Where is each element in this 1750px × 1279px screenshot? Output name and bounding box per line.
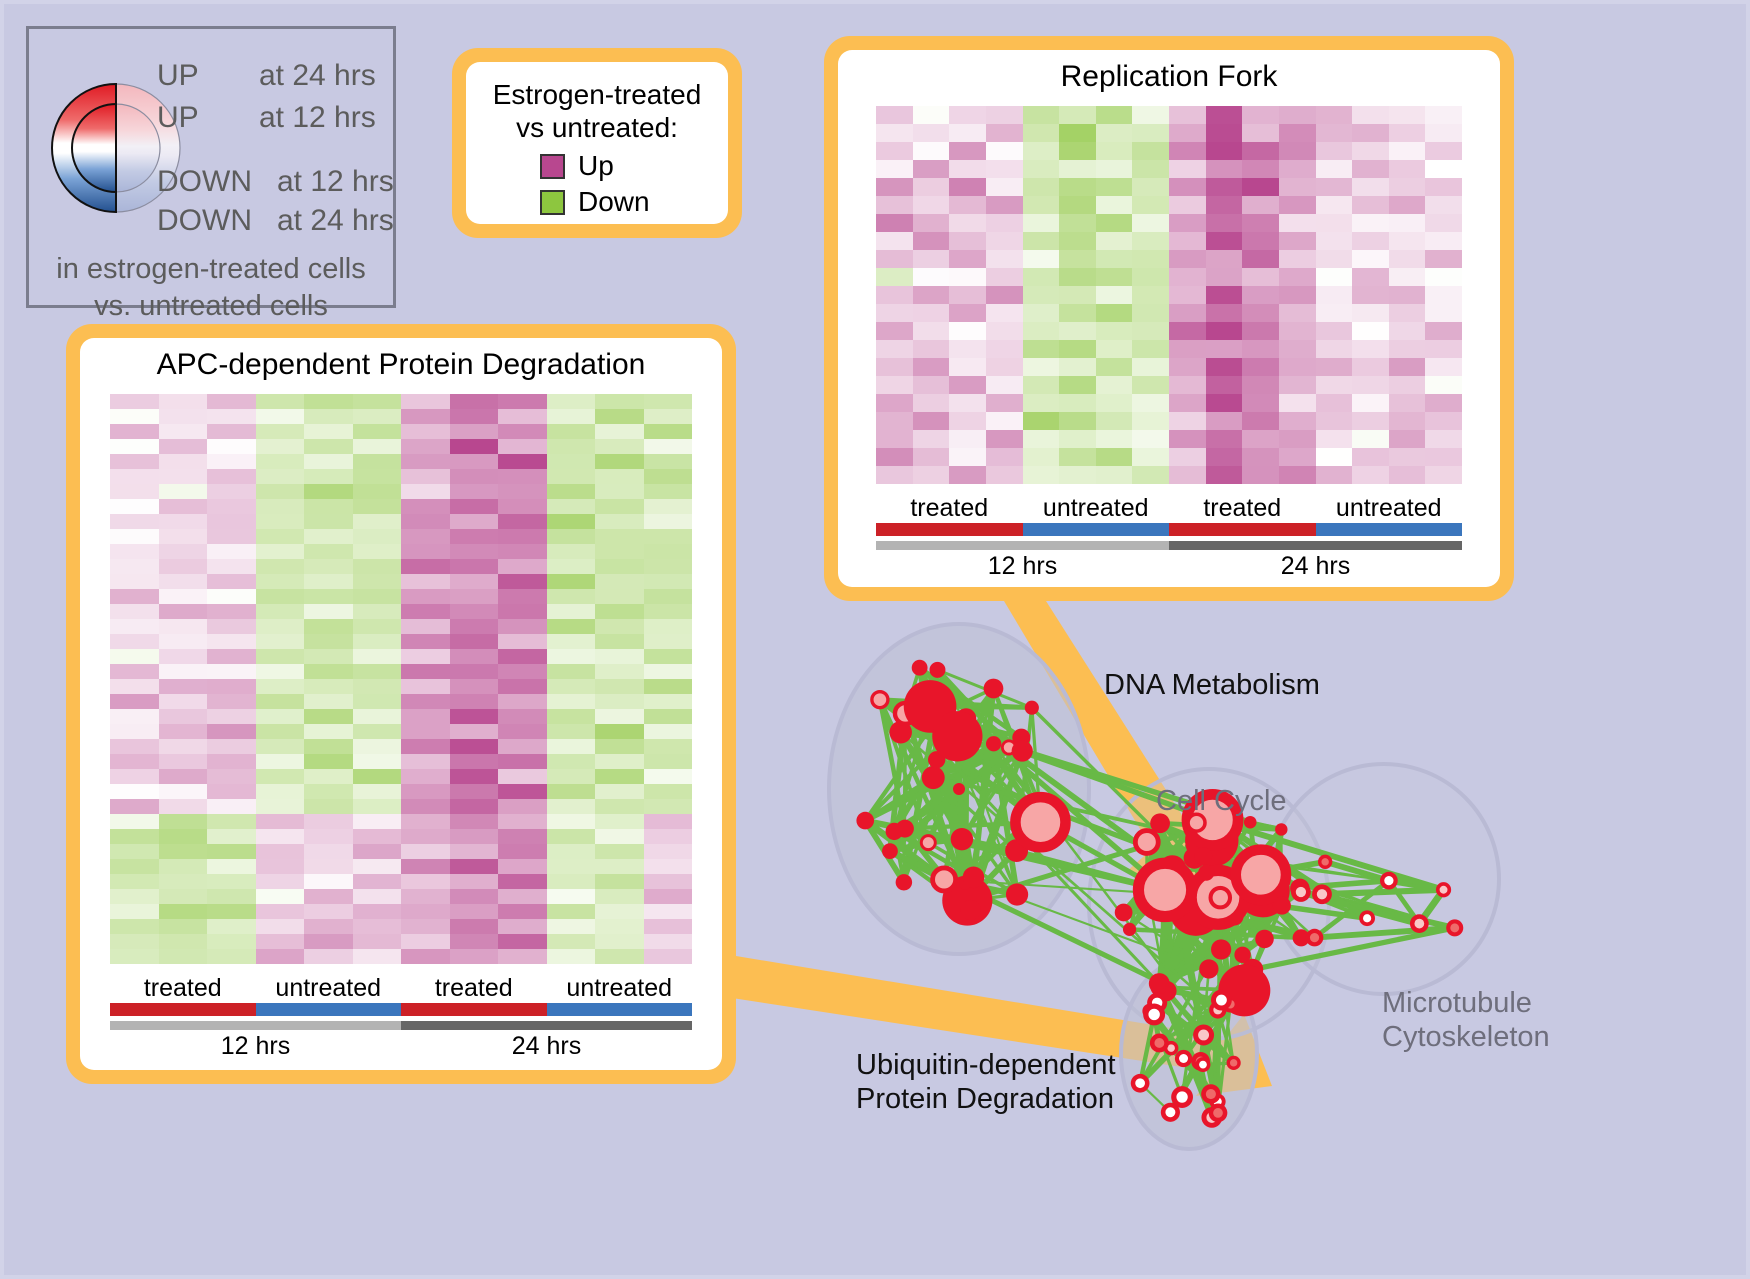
heatmap-cell [876,178,913,196]
heatmap-cell [1242,124,1279,142]
heatmap-cell [207,544,256,559]
heatmap-cell [644,649,693,664]
annotation-bar-segment [876,523,1023,536]
heatmap-cell [1059,394,1096,412]
heatmap-cell [1352,322,1389,340]
heatmap-cell [547,664,596,679]
heatmap-cell [401,859,450,874]
heatmap-cell [986,214,1023,232]
heatmap-cell [1206,232,1243,250]
heatmap-cell [949,214,986,232]
heatmap-cell [110,799,159,814]
heatmap-cell [1316,124,1353,142]
heatmap-cell [1169,286,1206,304]
heatmap-cell [644,799,693,814]
heatmap-cell [207,679,256,694]
heatmap-cell [1352,160,1389,178]
heatmap-cell [498,949,547,964]
heatmap-cell [1132,394,1169,412]
heatmap-cell [1023,322,1060,340]
heatmap-cell [353,739,402,754]
group-label-3: untreated [547,974,693,1003]
heatmap-cell [595,454,644,469]
heatmap-cell [644,439,693,454]
heatmap-cell [1206,160,1243,178]
heatmap-cell [207,859,256,874]
heatmap-cell [913,466,950,484]
heatmap-cell [1096,178,1133,196]
heatmap-cell [256,739,305,754]
heatmap-cell [644,754,693,769]
heatmap-cell [159,724,208,739]
legend-row-label-0: UP [157,59,199,93]
heatmap-cell [1206,124,1243,142]
heatmap-cell [110,454,159,469]
group-label-3: untreated [1316,494,1463,523]
heatmap-cell [207,574,256,589]
heatmap-cell [304,844,353,859]
heatmap-cell [159,874,208,889]
annotation-bar-segment [547,1003,693,1016]
heatmap-cell [913,250,950,268]
heatmap-cell [547,604,596,619]
heatmap-cell [401,574,450,589]
key-title: Estrogen-treated vs untreated: [466,72,728,146]
heatmap-cell [913,394,950,412]
annotation-bar-segment [401,1003,547,1016]
down-color-swatch [540,190,565,215]
heatmap-cell [353,904,402,919]
heatmap-cell [1132,124,1169,142]
heatmap-cell [159,484,208,499]
heatmap-cell [498,514,547,529]
heatmap-cell [498,409,547,424]
heatmap-cell [913,214,950,232]
heatmap-cell [401,634,450,649]
network-node [1123,923,1136,936]
heatmap-cell [1352,412,1389,430]
heatmap-cell [304,589,353,604]
network-node [953,783,965,795]
heatmap-cell [304,439,353,454]
heatmap-cell [876,160,913,178]
heatmap-cell [1279,466,1316,484]
heatmap-cell [644,454,693,469]
heatmap-cell [547,484,596,499]
heatmap-cell [450,724,499,739]
network-node [1255,930,1274,949]
heatmap-cell [1425,340,1462,358]
heatmap-cell [207,499,256,514]
time-label-1: 24 hrs [1169,550,1462,581]
heatmap-cell [498,649,547,664]
heatmap-cell [304,739,353,754]
heatmap-cell [913,268,950,286]
heatmap-cell [1023,232,1060,250]
heatmap-cell [110,814,159,829]
heatmap-cell [1132,232,1169,250]
heatmap-cell [1023,178,1060,196]
heatmap-cell [353,814,402,829]
heatmap-cell [1169,268,1206,286]
heatmap-cell [110,589,159,604]
heatmap-cell [256,724,305,739]
heatmap-cell [401,409,450,424]
heatmap-cell [644,919,693,934]
heatmap-cell [1425,250,1462,268]
heatmap-cell [1023,106,1060,124]
heatmap-cell [1425,358,1462,376]
heatmap-cell [110,649,159,664]
heatmap-cell [1316,106,1353,124]
network-node [1199,959,1218,978]
heatmap-cell [595,409,644,424]
heatmap-cell [498,529,547,544]
heatmap-cell [159,499,208,514]
heatmap-cell [401,844,450,859]
heatmap-cell [595,949,644,964]
heatmap-cell [256,604,305,619]
network-node [1149,973,1170,994]
heatmap-cell [986,286,1023,304]
annotation-bar-segment [110,1003,256,1016]
heatmap-cell [1169,412,1206,430]
heatmap-cell [644,544,693,559]
heatmap-cell [304,859,353,874]
heatmap-cell [876,232,913,250]
heatmap-cell [595,874,644,889]
heatmap-cell [986,412,1023,430]
heatmap-cell [644,499,693,514]
heatmap-cell [450,784,499,799]
network-node-core [1198,1030,1209,1041]
heatmap-cell [1059,448,1096,466]
heatmap-cell [986,160,1023,178]
heatmap-cell [401,784,450,799]
heatmap-cell [159,619,208,634]
heatmap-cell [1132,106,1169,124]
heatmap-cell [1279,250,1316,268]
heatmap-cell [986,448,1023,466]
heatmap-cell [159,769,208,784]
heatmap-cell [304,409,353,424]
heatmap-cell [450,604,499,619]
heatmap-cell [595,589,644,604]
heatmap-cell [304,874,353,889]
key-item-up: Up [466,150,728,182]
heatmap-cell [644,619,693,634]
network-node [932,711,982,761]
heatmap-cell [1059,376,1096,394]
heatmap-cell [644,679,693,694]
heatmap-cell [876,340,913,358]
heatmap-cell [595,604,644,619]
heatmap-cell [913,304,950,322]
heatmap-cell [450,709,499,724]
heatmap-cell [159,814,208,829]
heatmap-cell [256,394,305,409]
network-node-core [1199,1061,1207,1069]
heatmap-cell [595,529,644,544]
heatmap-cell [110,934,159,949]
heatmap-cell [1023,430,1060,448]
heatmap-cell [159,949,208,964]
replication-fork-panel: Replication Fork treated untreated treat… [824,36,1514,601]
heatmap-cell [949,430,986,448]
heatmap-cell [498,499,547,514]
heatmap-cell [1206,286,1243,304]
heatmap-cell [1279,286,1316,304]
replication-fork-group-bar [876,523,1462,536]
heatmap-cell [256,649,305,664]
heatmap-cell [1206,178,1243,196]
heatmap-cell [110,664,159,679]
heatmap-cell [1132,412,1169,430]
heatmap-cell [304,619,353,634]
heatmap-cell [256,589,305,604]
heatmap-cell [876,214,913,232]
heatmap-cell [547,709,596,724]
heatmap-cell [1206,106,1243,124]
heatmap-cell [256,574,305,589]
heatmap-cell [547,814,596,829]
heatmap-cell [644,604,693,619]
heatmap-cell [547,469,596,484]
heatmap-cell [498,844,547,859]
heatmap-cell [1059,268,1096,286]
heatmap-cell [1169,340,1206,358]
heatmap-cell [353,544,402,559]
heatmap-cell [110,889,159,904]
heatmap-cell [256,694,305,709]
heatmap-cell [1206,430,1243,448]
heatmap-cell [353,634,402,649]
network-node [1006,883,1028,905]
heatmap-cell [256,934,305,949]
heatmap-cell [1316,268,1353,286]
heatmap-cell [256,859,305,874]
heatmap-cell [1206,214,1243,232]
cluster-label-microtubule-cytoskeleton: Microtubule Cytoskeleton [1382,986,1550,1054]
heatmap-cell [353,619,402,634]
heatmap-cell [1352,178,1389,196]
heatmap-cell [595,859,644,874]
heatmap-cell [450,799,499,814]
heatmap-cell [644,724,693,739]
heatmap-cell [1316,304,1353,322]
heatmap-cell [450,754,499,769]
heatmap-cell [353,574,402,589]
heatmap-cell [353,664,402,679]
heatmap-cell [547,574,596,589]
apc-degradation-panel: APC-dependent Protein Degradation treate… [66,324,736,1084]
heatmap-cell [1023,268,1060,286]
heatmap-cell [304,649,353,664]
heatmap-cell [304,904,353,919]
heatmap-cell [1352,106,1389,124]
heatmap-cell [353,439,402,454]
heatmap-cell [644,574,693,589]
heatmap-cell [207,934,256,949]
heatmap-cell [450,919,499,934]
heatmap-cell [498,544,547,559]
heatmap-cell [644,409,693,424]
heatmap-cell [1096,304,1133,322]
heatmap-cell [949,358,986,376]
heatmap-cell [1206,340,1243,358]
heatmap-cell [1132,196,1169,214]
heatmap-cell [1279,178,1316,196]
heatmap-cell [986,358,1023,376]
heatmap-cell [498,454,547,469]
heatmap-cell [1352,142,1389,160]
heatmap-cell [1316,430,1353,448]
heatmap-cell [256,514,305,529]
heatmap-cell [547,949,596,964]
heatmap-cell [401,874,450,889]
legend-row-label-2: DOWN [157,165,252,199]
heatmap-cell [256,709,305,724]
heatmap-cell [304,634,353,649]
heatmap-cell [450,904,499,919]
heatmap-cell [207,799,256,814]
heatmap-cell [498,784,547,799]
heatmap-cell [498,754,547,769]
heatmap-cell [401,904,450,919]
heatmap-cell [949,466,986,484]
heatmap-cell [1389,142,1426,160]
heatmap-cell [547,454,596,469]
heatmap-cell [110,754,159,769]
heatmap-cell [450,859,499,874]
heatmap-cell [595,634,644,649]
heatmap-cell [498,934,547,949]
heatmap-cell [207,589,256,604]
group-label-2: treated [1169,494,1316,523]
heatmap-cell [304,694,353,709]
heatmap-cell [1316,340,1353,358]
heatmap-cell [644,859,693,874]
heatmap-cell [1096,160,1133,178]
heatmap-cell [1242,196,1279,214]
legend-caption: in estrogen-treated cells vs. untreated … [29,251,393,325]
heatmap-cell [159,559,208,574]
heatmap-cell [1389,430,1426,448]
heatmap-cell [1316,178,1353,196]
heatmap-cell [1279,358,1316,376]
heatmap-cell [986,430,1023,448]
heatmap-cell [1059,142,1096,160]
heatmap-cell [1206,196,1243,214]
heatmap-cell [913,196,950,214]
heatmap-cell [353,559,402,574]
heatmap-cell [450,454,499,469]
heatmap-cell [450,949,499,964]
heatmap-cell [450,889,499,904]
heatmap-cell [949,304,986,322]
heatmap-cell [110,619,159,634]
heatmap-cell [1132,160,1169,178]
heatmap-cell [498,394,547,409]
heatmap-cell [498,829,547,844]
heatmap-cell [304,529,353,544]
heatmap-cell [1425,268,1462,286]
heatmap-cell [256,769,305,784]
heatmap-cell [498,484,547,499]
network-node [882,843,898,859]
heatmap-cell [110,709,159,724]
heatmap-cell [1096,142,1133,160]
heatmap-cell [986,232,1023,250]
heatmap-cell [1389,322,1426,340]
heatmap-cell [498,439,547,454]
heatmap-cell [547,544,596,559]
heatmap-cell [1389,124,1426,142]
heatmap-cell [1279,430,1316,448]
heatmap-cell [450,844,499,859]
heatmap-cell [450,394,499,409]
heatmap-cell [110,949,159,964]
heatmap-cell [876,142,913,160]
heatmap-cell [498,619,547,634]
heatmap-cell [110,529,159,544]
heatmap-cell [913,286,950,304]
heatmap-cell [207,634,256,649]
annotation-bar-segment [256,1003,402,1016]
annotation-bar-segment [1023,523,1170,536]
heatmap-cell [1425,448,1462,466]
heatmap-cell [401,544,450,559]
heatmap-cell [595,439,644,454]
heatmap-cell [1242,340,1279,358]
heatmap-cell [1132,340,1169,358]
heatmap-cell [207,559,256,574]
heatmap-cell [110,634,159,649]
heatmap-cell [986,142,1023,160]
heatmap-cell [1023,448,1060,466]
heatmap-cell [1352,376,1389,394]
network-node-core [1296,887,1306,897]
heatmap-cell [547,769,596,784]
heatmap-cell [1279,394,1316,412]
heatmap-cell [1096,340,1133,358]
heatmap-cell [547,904,596,919]
heatmap-cell [304,829,353,844]
heatmap-cell [1132,142,1169,160]
network-node-core [1317,889,1327,899]
network-node-core [1414,919,1424,929]
heatmap-cell [1023,358,1060,376]
heatmap-cell [401,829,450,844]
heatmap-cell [353,919,402,934]
heatmap-cell [1389,196,1426,214]
heatmap-cell [986,376,1023,394]
heatmap-cell [207,394,256,409]
heatmap-cell [547,694,596,709]
heatmap-cell [1096,322,1133,340]
heatmap-cell [256,949,305,964]
heatmap-cell [353,649,402,664]
heatmap-cell [256,664,305,679]
legend-row-label-1: UP [157,101,199,135]
heatmap-cell [547,439,596,454]
heatmap-cell [1242,448,1279,466]
heatmap-cell [207,409,256,424]
heatmap-cell [159,589,208,604]
heatmap-cell [450,769,499,784]
heatmap-cell [1389,412,1426,430]
heatmap-cell [304,784,353,799]
